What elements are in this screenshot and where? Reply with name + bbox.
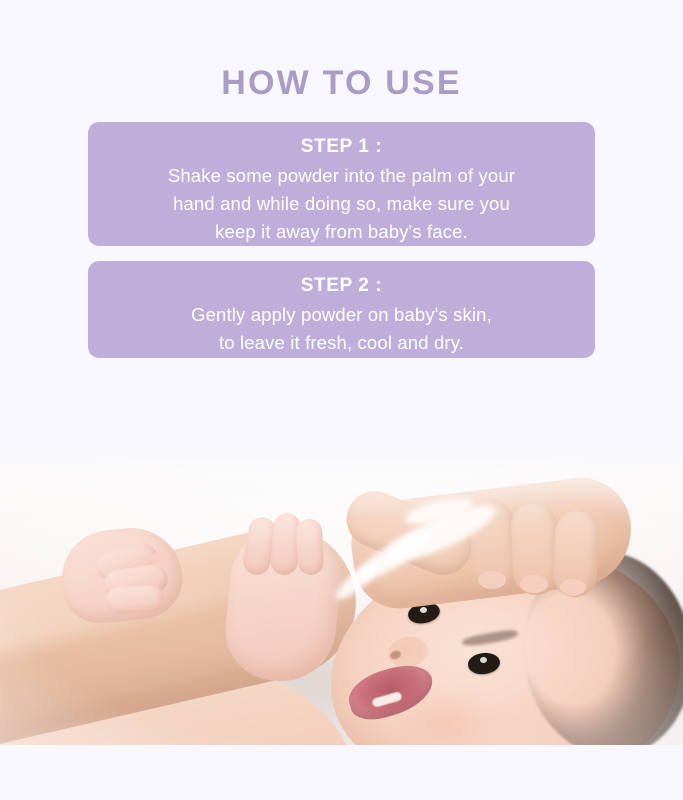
adult-fingernail-3	[560, 579, 586, 596]
step-2-line-1: Gently apply powder on baby's skin,	[106, 301, 577, 329]
step-1-line-2: hand and while doing so, make sure you	[106, 190, 577, 218]
baby-eye-highlight-lower	[480, 657, 487, 663]
step-1-title: STEP 1 :	[106, 132, 577, 162]
baby-right-finger-3	[296, 518, 325, 575]
adult-fingernail-2	[520, 575, 548, 593]
step-card-1: STEP 1 : Shake some powder into the palm…	[88, 122, 595, 246]
photo-illustration	[0, 455, 683, 745]
step-1-body: Shake some powder into the palm of your …	[106, 162, 577, 246]
how-to-use-page: HOW TO USE STEP 1 : Shake some powder in…	[0, 0, 683, 800]
baby-powder-photo	[0, 455, 683, 745]
step-2-body: Gently apply powder on baby's skin, to l…	[106, 301, 577, 357]
adult-fingernail-1	[478, 571, 506, 589]
step-2-title: STEP 2 :	[106, 271, 577, 301]
baby-left-finger-3	[106, 585, 165, 614]
step-card-2: STEP 2 : Gently apply powder on baby's s…	[88, 261, 595, 358]
page-title: HOW TO USE	[0, 60, 683, 106]
step-2-line-2: to leave it fresh, cool and dry.	[106, 329, 577, 357]
baby-eye-highlight-upper	[420, 607, 427, 613]
step-1-line-1: Shake some powder into the palm of your	[106, 162, 577, 190]
step-1-line-3: keep it away from baby's face.	[106, 218, 577, 246]
